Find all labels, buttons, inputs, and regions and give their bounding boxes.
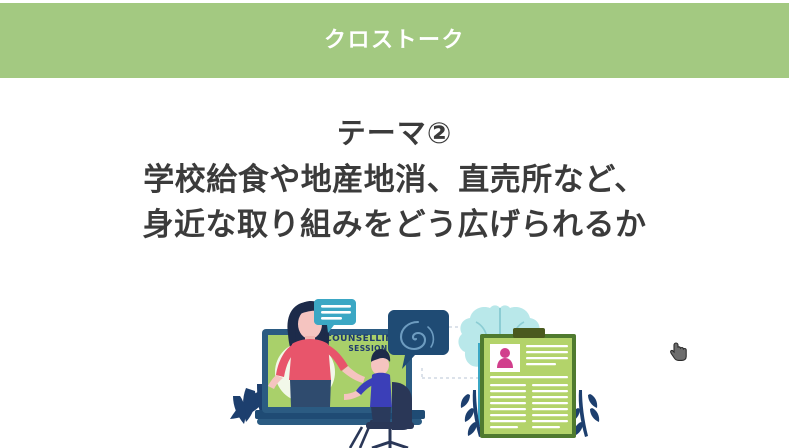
slide-body-text: テーマ② 学校給食や地産地消、直売所など、 身近な取り組みをどう広げられるか (0, 112, 789, 248)
theme-line-2: 身近な取り組みをどう広げられるか (0, 203, 789, 248)
slide-header-title: クロストーク (324, 30, 465, 52)
pointing-hand-cursor (670, 342, 688, 362)
slide-header-band: クロストーク (0, 3, 789, 78)
slide-canvas: クロストーク テーマ② 学校給食や地産地消、直売所など、 身近な取り組みをどう広… (0, 0, 789, 446)
theme-line-1: 学校給食や地産地消、直売所など、 (0, 158, 789, 203)
counselling-session-illustration: COUNSELLING SESSION (200, 272, 600, 448)
clipboard-document-graphic (480, 328, 576, 438)
theme-label: テーマ② (0, 112, 789, 154)
